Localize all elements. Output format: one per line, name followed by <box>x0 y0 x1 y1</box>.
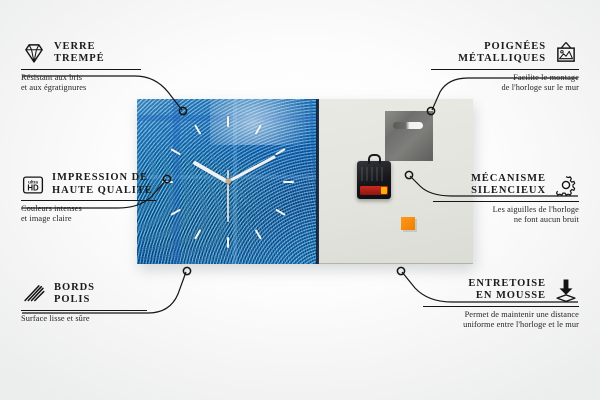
feature-sub-line2: et aux égratignures <box>21 83 141 93</box>
feature-title: BORDS POLIS <box>54 282 95 307</box>
metal-hanger-plate <box>385 111 433 161</box>
feature-subtitle: Surface lisse et sûre <box>21 314 147 324</box>
feature-title: IMPRESSION DE HAUTE QUALITÉ <box>52 172 153 197</box>
feature-header: VERRE TREMPÉ <box>21 40 141 66</box>
feature-rule <box>433 201 579 202</box>
feature-header: ENTRETOISE EN MOUSSE <box>423 277 579 303</box>
clock-tick <box>228 181 294 183</box>
feature-sub-line1: Couleurs intenses <box>21 204 156 214</box>
feature-bords-polis[interactable]: BORDS POLIS Surface lisse et sûre <box>21 281 147 324</box>
feature-title: MÉCANISME SILENCIEUX <box>471 173 546 198</box>
ultra-hd-badge-icon: ultra HD <box>21 173 45 197</box>
feature-entretoise-en-mousse[interactable]: ENTRETOISE EN MOUSSE Permet de maintenir… <box>423 277 579 330</box>
feature-rule <box>21 69 141 70</box>
feature-title-line2: HAUTE QUALITÉ <box>52 185 153 198</box>
foam-spacer <box>401 217 415 230</box>
clock-face <box>137 99 319 264</box>
feature-header: ultra HD IMPRESSION DE HAUTE QUALITÉ <box>21 172 156 197</box>
feature-mecanisme-silencieux[interactable]: MÉCANISME SILENCIEUX Les aiguilles de l'… <box>433 172 579 225</box>
mechanism-hanging-loop <box>368 154 381 164</box>
feature-header: BORDS POLIS <box>21 281 147 307</box>
feature-rule <box>21 200 156 201</box>
feature-title: ENTRETOISE EN MOUSSE <box>468 278 546 303</box>
feature-title-line2: SILENCIEUX <box>471 185 546 198</box>
feature-title-line1: MÉCANISME <box>471 173 546 186</box>
feature-sub-line2: de l'horloge sur le mur <box>431 83 579 93</box>
clock-front-panel <box>137 99 319 264</box>
gear-icon <box>553 172 579 198</box>
feature-sub-line1: Facilite le montage <box>431 73 579 83</box>
feature-title: POIGNÉES MÉTALLIQUES <box>458 41 546 66</box>
clock-tick <box>162 181 228 183</box>
feature-title-line1: POIGNÉES <box>458 41 546 54</box>
feature-header: POIGNÉES MÉTALLIQUES <box>431 40 579 66</box>
feature-sub-line2: et image claire <box>21 214 156 224</box>
feature-rule <box>423 306 579 307</box>
infographic-stage: VERRE TREMPÉ Résistant aux bris et aux é… <box>0 0 600 400</box>
feature-subtitle: Permet de maintenir une distance uniform… <box>423 310 579 330</box>
feature-sub-line1: Surface lisse et sûre <box>21 314 147 324</box>
feature-rule <box>21 310 147 311</box>
battery <box>360 186 388 195</box>
feature-impression-haute-qualite[interactable]: ultra HD IMPRESSION DE HAUTE QUALITÉ Cou… <box>21 172 156 224</box>
hanging-frame-icon <box>553 40 579 66</box>
feature-verre-trempe[interactable]: VERRE TREMPÉ Résistant aux bris et aux é… <box>21 40 141 93</box>
feature-subtitle: Couleurs intenses et image claire <box>21 204 156 224</box>
feature-title-line1: BORDS <box>54 282 95 295</box>
feature-title-line2: MÉTALLIQUES <box>458 53 546 66</box>
feature-rule <box>431 69 579 70</box>
product-image <box>137 99 473 264</box>
hanger-slot <box>393 122 423 129</box>
feature-title-line2: TREMPÉ <box>54 53 105 66</box>
svg-text:HD: HD <box>27 183 39 192</box>
feature-title-line1: ENTRETOISE <box>468 278 546 291</box>
feature-title-line1: IMPRESSION DE <box>52 172 153 185</box>
down-arrow-plate-icon <box>553 277 579 303</box>
feature-title-line2: POLIS <box>54 294 95 307</box>
feature-sub-line1: Résistant aux bris <box>21 73 141 83</box>
feature-poignees-metalliques[interactable]: POIGNÉES MÉTALLIQUES Facilite le montage… <box>431 40 579 93</box>
feature-sub-line1: Les aiguilles de l'horloge <box>433 205 579 215</box>
clock-mechanism <box>357 161 391 199</box>
mechanism-texture <box>361 167 385 181</box>
feature-subtitle: Les aiguilles de l'horloge ne font aucun… <box>433 205 579 225</box>
feature-header: MÉCANISME SILENCIEUX <box>433 172 579 198</box>
feature-sub-line2: uniforme entre l'horloge et le mur <box>423 320 579 330</box>
feature-subtitle: Résistant aux bris et aux égratignures <box>21 73 141 93</box>
feature-sub-line1: Permet de maintenir une distance <box>423 310 579 320</box>
polished-edges-icon <box>21 281 47 307</box>
clock-center-cap <box>226 179 231 184</box>
feature-sub-line2: ne font aucun bruit <box>433 215 579 225</box>
feature-title-line2: EN MOUSSE <box>468 290 546 303</box>
feature-title: VERRE TREMPÉ <box>54 41 105 66</box>
feature-title-line1: VERRE <box>54 41 105 54</box>
feature-subtitle: Facilite le montage de l'horloge sur le … <box>431 73 579 93</box>
diamond-icon <box>21 40 47 66</box>
